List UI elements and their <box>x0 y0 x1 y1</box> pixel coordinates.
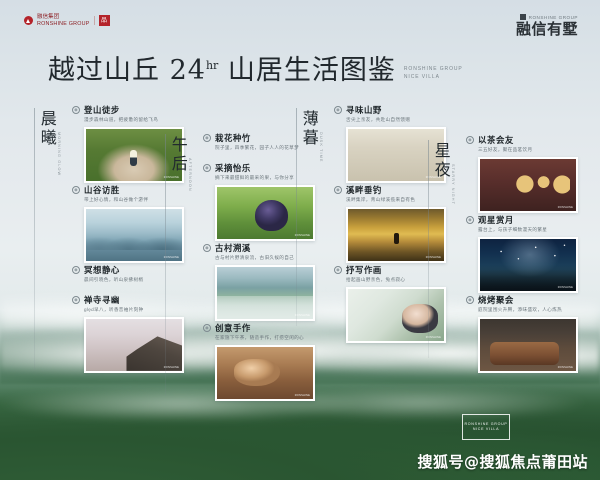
item-subtitle: ględ早八，听香音袖片刻钟 <box>84 307 184 313</box>
list-item[interactable]: 采摘怡乐 摘下来最甜鲜的最采的果，与你分享 RONSHINE <box>203 164 315 241</box>
section-label-afternoon-en: AFTERNOON <box>188 158 192 192</box>
item-photo[interactable]: RONSHINE <box>346 127 446 183</box>
logo-badge: 品 <box>99 15 110 26</box>
photo-village-stream <box>217 267 313 319</box>
ronshine-triangle-icon <box>24 16 33 25</box>
section-label-night-en: STARRY NIGHT <box>451 164 455 205</box>
list-item[interactable]: 寻味山野 舌尖上亲友，共赴山自然馈赠 RONSHINE <box>334 106 446 183</box>
photo-tea-gathering <box>480 159 576 211</box>
bullet-icon <box>72 186 80 194</box>
photo-riverside-fishing <box>348 209 444 261</box>
bullet-icon <box>466 136 474 144</box>
bullet-icon <box>466 216 474 224</box>
section-label-dusk-cn: 薄暮 <box>300 110 317 148</box>
title-unit: hr <box>206 59 218 72</box>
item-photo[interactable]: RONSHINE <box>478 237 578 293</box>
logo-left-wordmark: 融信集团 RONSHINE GROUP <box>37 14 90 28</box>
bullet-icon <box>334 106 342 114</box>
list-item[interactable]: 古村溯溪 古与村片野清泉流，古旧久候的自己 RONSHINE <box>203 244 315 321</box>
list-item[interactable]: 栽花种竹 院子里，四季繁花，园子人人的花草梦 <box>203 134 315 151</box>
photo-handicraft <box>217 347 313 399</box>
item-title: 创意手作 <box>215 324 251 332</box>
photo-bbq-party <box>480 319 576 371</box>
photo-hiking-trail <box>86 129 182 181</box>
item-head: 以茶会友 <box>466 136 578 144</box>
bullet-icon <box>334 266 342 274</box>
title-en-line-2: NICE VILLA <box>404 74 440 80</box>
column-rule-afternoon <box>165 134 166 396</box>
item-title: 冥想静心 <box>84 266 120 274</box>
item-subtitle: 古与村片野清泉流，古旧久候的自己 <box>215 255 315 261</box>
list-item[interactable]: 烧烤聚会 庭院里围火升腾，添味盛欢，人心炼热 RONSHINE <box>466 296 578 373</box>
item-photo[interactable]: RONSHINE <box>215 265 315 321</box>
item-head: 观星赏月 <box>466 216 578 224</box>
bullet-icon <box>203 324 211 332</box>
item-title: 烧烤聚会 <box>478 296 514 304</box>
item-head: 登山徒步 <box>72 106 184 114</box>
bullet-icon <box>203 244 211 252</box>
item-title: 山谷访胜 <box>84 186 120 194</box>
item-subtitle: 舌尖上亲友，共赴山自然馈赠 <box>346 117 446 123</box>
photo-zen-temple <box>86 319 182 371</box>
item-title: 古村溯溪 <box>215 244 251 252</box>
item-title: 抒写作画 <box>346 266 382 274</box>
item-head: 烧烤聚会 <box>466 296 578 304</box>
watermark: 搜狐号@搜狐焦点莆田站 <box>417 451 588 472</box>
item-title: 寻味山野 <box>346 106 382 114</box>
item-photo[interactable]: RONSHINE <box>84 317 184 373</box>
item-head: 山谷访胜 <box>72 186 184 194</box>
footer-brand-box: RONSHINE GROUP NICE VILLA <box>462 414 510 440</box>
item-subtitle: 溪畔集岸，青山绿溪揽来自有色 <box>346 197 446 203</box>
item-head: 溪畔垂钓 <box>334 186 446 194</box>
timeline-columns: 晨曦 MORNING GLOW 登山徒步 漫步森林山道，把疲惫的留给飞鸟 RON… <box>0 104 600 404</box>
item-photo[interactable]: RONSHINE <box>478 317 578 373</box>
item-subtitle: 三五好友，聚在品茗饮月 <box>478 147 578 153</box>
item-photo[interactable]: RONSHINE <box>84 207 184 263</box>
photo-caption: RONSHINE <box>558 206 573 209</box>
bullet-icon <box>203 134 211 142</box>
logo-top-left: 融信集团 RONSHINE GROUP 品 <box>24 14 110 28</box>
item-head: 栽花种竹 <box>203 134 315 142</box>
section-label-night-cn: 星夜 <box>432 142 449 180</box>
section-label-afternoon: 午后 AFTERNOON <box>169 136 192 192</box>
item-subtitle: 庭院里围火升腾，添味盛欢，人心炼热 <box>478 307 578 313</box>
section-label-dusk: 薄暮 DUSK TIME <box>300 110 323 163</box>
list-item[interactable]: 观星赏月 露台上，与孩子细数漫天的繁星 RONSHINE <box>466 216 578 293</box>
item-photo[interactable]: RONSHINE <box>215 345 315 401</box>
item-title: 溪畔垂钓 <box>346 186 382 194</box>
item-head: 冥想静心 <box>72 266 184 274</box>
item-photo[interactable]: RONSHINE <box>478 157 578 213</box>
item-title: 以茶会友 <box>478 136 514 144</box>
page-title-en: RONSHINE GROUP NICE VILLA <box>404 66 463 82</box>
footer-brand-line-2: NICE VILLA <box>473 427 499 432</box>
bullet-icon <box>334 186 342 194</box>
list-item[interactable]: 山谷访胜 带上好心情，和山谷做个游伴 RONSHINE <box>72 186 184 263</box>
photo-painting-writing <box>348 289 444 341</box>
section-label-morning-en: MORNING GLOW <box>57 132 61 176</box>
page-title-text: 越过山丘 24hr 山居生活图鉴 <box>48 56 396 86</box>
item-subtitle: 在家施下午茶，随造手作，打捞空闲的心 <box>215 335 315 341</box>
photo-caption: RONSHINE <box>295 394 310 397</box>
item-head: 寻味山野 <box>334 106 446 114</box>
item-title: 禅寺寻幽 <box>84 296 120 304</box>
item-title: 栽花种竹 <box>215 134 251 142</box>
list-item[interactable]: 创意手作 在家施下午茶，随造手作，打捞空闲的心 RONSHINE <box>203 324 315 401</box>
logo-top-right: RONSHINE GROUP 融信有墅 <box>516 14 578 37</box>
list-item[interactable]: 禅寺寻幽 ględ早八，听香音袖片刻钟 RONSHINE <box>72 296 184 373</box>
poster-root: 融信集团 RONSHINE GROUP 品 RONSHINE GROUP 融信有… <box>0 0 600 480</box>
item-subtitle: 摘下来最甜鲜的最采的果，与你分享 <box>215 175 315 181</box>
item-subtitle: 晨间引晓色，听山泉拂树梢 <box>84 277 184 283</box>
list-item[interactable]: 溪畔垂钓 溪畔集岸，青山绿溪揽来自有色 RONSHINE <box>334 186 446 263</box>
section-label-afternoon-cn: 午后 <box>169 136 186 174</box>
list-item[interactable]: 抒写作画 拾起画山野亲色，兔点寂心 RONSHINE <box>334 266 446 343</box>
title-number: 24 <box>170 55 206 86</box>
item-subtitle: 露台上，与孩子细数漫天的繁星 <box>478 227 578 233</box>
bullet-icon <box>466 296 474 304</box>
photo-farm-vegetables <box>348 129 444 181</box>
item-head: 古村溯溪 <box>203 244 315 252</box>
item-photo[interactable]: RONSHINE <box>346 287 446 343</box>
item-photo[interactable]: RONSHINE <box>346 207 446 263</box>
column-rule-morning <box>34 108 35 370</box>
item-subtitle: 拾起画山野亲色，兔点寂心 <box>346 277 446 283</box>
photo-caption: RONSHINE <box>558 286 573 289</box>
item-title: 观星赏月 <box>478 216 514 224</box>
bullet-icon <box>72 106 80 114</box>
item-head: 创意手作 <box>203 324 315 332</box>
logo-divider <box>94 16 95 25</box>
logo-right-en: RONSHINE GROUP <box>529 15 578 20</box>
bullet-icon <box>203 164 211 172</box>
item-subtitle: 带上好心情，和山谷做个游伴 <box>84 197 184 203</box>
item-head: 抒写作画 <box>334 266 446 274</box>
item-title: 登山徒步 <box>84 106 120 114</box>
section-label-dusk-en: DUSK TIME <box>319 132 323 163</box>
item-title: 采摘怡乐 <box>215 164 251 172</box>
title-part-2: 山居生活图鉴 <box>228 55 396 86</box>
section-label-night: 星夜 STARRY NIGHT <box>432 142 455 205</box>
title-part-1: 越过山丘 <box>48 55 160 86</box>
item-head: 采摘怡乐 <box>203 164 315 172</box>
item-photo[interactable]: RONSHINE <box>215 185 315 241</box>
item-head: 禅寺寻幽 <box>72 296 184 304</box>
bullet-icon <box>72 266 80 274</box>
page-title: 越过山丘 24hr 山居生活图鉴 RONSHINE GROUP NICE VIL… <box>48 56 463 86</box>
list-item[interactable]: 登山徒步 漫步森林山道，把疲惫的留给飞鸟 RONSHINE <box>72 106 184 183</box>
bullet-icon <box>72 296 80 304</box>
list-item[interactable]: 以茶会友 三五好友，聚在品茗饮月 RONSHINE <box>466 136 578 213</box>
item-subtitle: 漫步森林山道，把疲惫的留给飞鸟 <box>84 117 184 123</box>
section-label-morning-cn: 晨曦 <box>38 110 55 148</box>
list-item[interactable]: 冥想静心 晨间引晓色，听山泉拂树梢 <box>72 266 184 283</box>
column-rule-night <box>428 140 429 358</box>
photo-stargazing <box>480 239 576 291</box>
photo-grape-harvest <box>217 187 313 239</box>
photo-caption: RONSHINE <box>558 366 573 369</box>
column-rule-dusk <box>296 108 297 326</box>
photo-mountain-valley <box>86 209 182 261</box>
section-label-morning: 晨曦 MORNING GLOW <box>38 110 61 176</box>
logo-right-cn: 融信有墅 <box>516 22 578 37</box>
title-en-line-1: RONSHINE GROUP <box>404 66 463 72</box>
